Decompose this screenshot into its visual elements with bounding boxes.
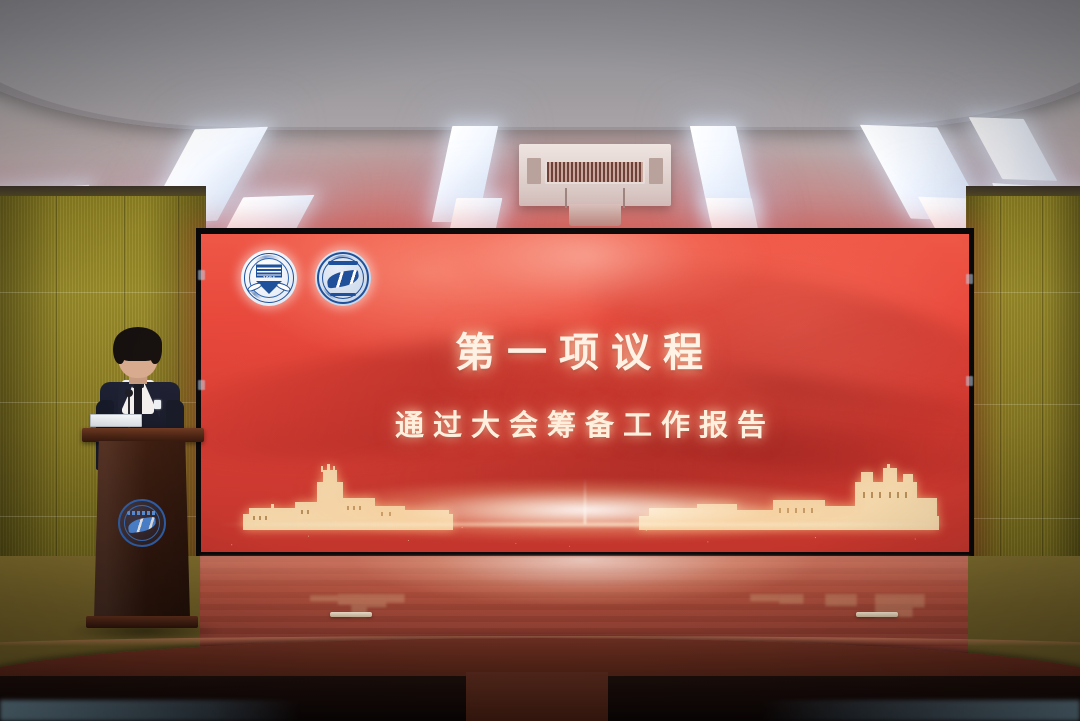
ceiling-arc-inner	[0, 0, 1080, 127]
conference-hall-photo: 1984 第一项议程 通过大会筹备工作报告	[0, 0, 1080, 721]
ac-vane	[649, 158, 663, 184]
ceiling-air-conditioner	[519, 144, 671, 206]
foreground-light-left	[0, 700, 300, 721]
screen-bezel-reflection	[198, 380, 205, 390]
ac-drop-panel	[569, 204, 621, 226]
lapel-badge	[154, 400, 161, 409]
screen-glow	[401, 234, 770, 329]
necktie	[134, 382, 142, 418]
emblem-year-text: 1984	[263, 276, 275, 282]
screen-subheadline: 通过大会筹备工作报告	[201, 402, 969, 444]
university-emblem-book-icon: 1984	[241, 250, 297, 306]
screen-headline: 第一项议程	[201, 320, 969, 378]
screen-bezel-reflection	[966, 376, 973, 386]
screen-logo-group: 1984	[241, 250, 371, 306]
hair-side-left	[113, 338, 125, 364]
wall-seam	[0, 292, 206, 293]
podium-school-emblem-icon	[118, 499, 166, 547]
screen-bezel-reflection	[198, 270, 205, 280]
school-emblem-bird-icon	[315, 250, 371, 306]
microphone-head-icon	[125, 389, 133, 397]
ceiling-light-panel	[969, 117, 1058, 181]
led-screen-content: 1984 第一项议程 通过大会筹备工作报告	[201, 234, 969, 552]
screen-bezel-reflection	[966, 274, 973, 284]
wall-seam	[966, 404, 1080, 405]
ac-rod	[623, 188, 625, 208]
hair-side-right	[150, 338, 162, 364]
floor-reflection-cityscape	[720, 588, 950, 628]
floor-reflection-cityscape	[280, 588, 460, 628]
ac-grille	[545, 160, 645, 184]
floor-marker-strip	[330, 612, 372, 617]
podium-top-surface	[82, 428, 204, 442]
screen-bottom-graphic	[201, 456, 969, 552]
led-display-screen[interactable]: 1984 第一项议程 通过大会筹备工作报告	[196, 228, 974, 560]
emblem-top-band	[328, 261, 358, 265]
podium-nameplate	[90, 414, 142, 427]
wall-seam	[966, 292, 1080, 293]
floor-marker-strip	[856, 612, 898, 617]
emblem-bottom-band	[330, 293, 356, 296]
podium-emblem-arc-text	[127, 511, 157, 515]
horizon-light-burst	[305, 480, 865, 540]
wall-seam	[966, 518, 1080, 519]
podium-base	[86, 616, 198, 628]
foreground-light-right	[760, 700, 1080, 721]
podium-lectern[interactable]	[84, 428, 200, 634]
stage-front-pillar	[466, 672, 608, 721]
ac-vane	[527, 158, 541, 184]
podium-body	[94, 441, 190, 619]
ac-rod	[565, 188, 567, 208]
